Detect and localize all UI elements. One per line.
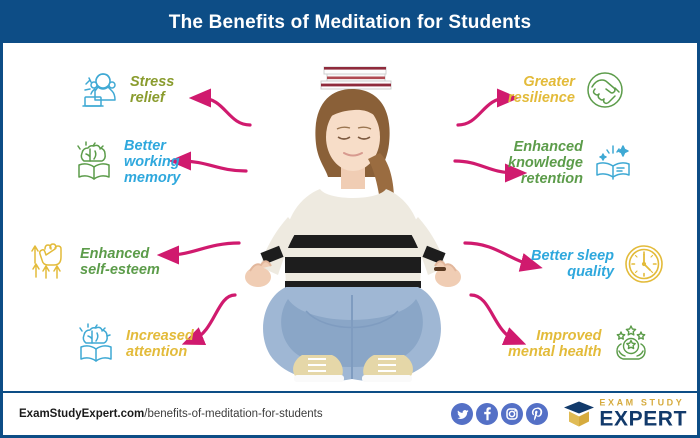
benefit-label: Increased attention <box>126 328 194 360</box>
footer-bar: ExamStudyExpert.com/benefits-of-meditati… <box>3 391 697 435</box>
benefit-label: Stress relief <box>130 74 174 106</box>
pinterest-icon[interactable] <box>526 403 548 425</box>
benefit-greater-resilience[interactable]: Greater resilience <box>508 67 628 113</box>
benefit-label: Enhanced knowledge retention <box>508 139 583 188</box>
open-book-with-sparkles-icon <box>590 140 636 186</box>
brain-on-open-book-icon <box>71 139 117 185</box>
footer-url[interactable]: ExamStudyExpert.com/benefits-of-meditati… <box>19 408 323 420</box>
benefit-label: Better working memory <box>124 138 180 187</box>
benefit-label: Improved mental health <box>508 328 601 360</box>
diagram-canvas: Stress relief Better working memory <box>3 43 697 399</box>
hands-holding-star-icon <box>608 321 654 367</box>
graduation-cap-icon <box>562 399 596 429</box>
benefit-label: Enhanced self-esteem <box>80 246 160 278</box>
benefit-label: Greater resilience <box>508 74 575 106</box>
footer-url-path: /benefits-of-meditation-for-students <box>144 408 322 420</box>
footer-url-domain: ExamStudyExpert.com <box>19 408 144 420</box>
raised-fist-with-arrows-icon <box>27 239 73 285</box>
page-title: The Benefits of Meditation for Students <box>169 12 531 34</box>
benefit-better-working-memory[interactable]: Better working memory <box>71 138 180 187</box>
benefit-label: Better sleep quality <box>531 248 614 280</box>
instagram-icon[interactable] <box>501 403 523 425</box>
benefit-improved-mental-health[interactable]: Improved mental health <box>508 321 654 367</box>
facebook-icon[interactable] <box>476 403 498 425</box>
meditating-student-photo <box>228 49 478 399</box>
logo-top-text: EXAM STUDY <box>599 399 687 408</box>
brain-on-open-book-icon <box>73 321 119 367</box>
benefit-enhanced-knowledge-retention[interactable]: Enhanced knowledge retention <box>508 139 636 188</box>
handshake-circle-icon <box>582 67 628 113</box>
twitter-icon[interactable] <box>451 403 473 425</box>
books-stack <box>321 67 391 89</box>
header-bar: The Benefits of Meditation for Students <box>3 3 697 43</box>
benefit-better-sleep-quality[interactable]: Better sleep quality <box>531 241 667 287</box>
stressed-person-at-laptop-icon <box>77 67 123 113</box>
logo-wordmark: EXAM STUDY EXPERT <box>599 399 687 430</box>
logo-bottom-text: EXPERT <box>599 409 687 430</box>
benefit-stress-relief[interactable]: Stress relief <box>77 67 174 113</box>
benefit-enhanced-self-esteem[interactable]: Enhanced self-esteem <box>27 239 160 285</box>
benefit-increased-attention[interactable]: Increased attention <box>73 321 194 367</box>
infographic-poster: The Benefits of Meditation for Students <box>0 0 700 438</box>
social-links <box>451 403 548 425</box>
brand-logo[interactable]: EXAM STUDY EXPERT <box>562 399 687 430</box>
analog-clock-icon <box>621 241 667 287</box>
